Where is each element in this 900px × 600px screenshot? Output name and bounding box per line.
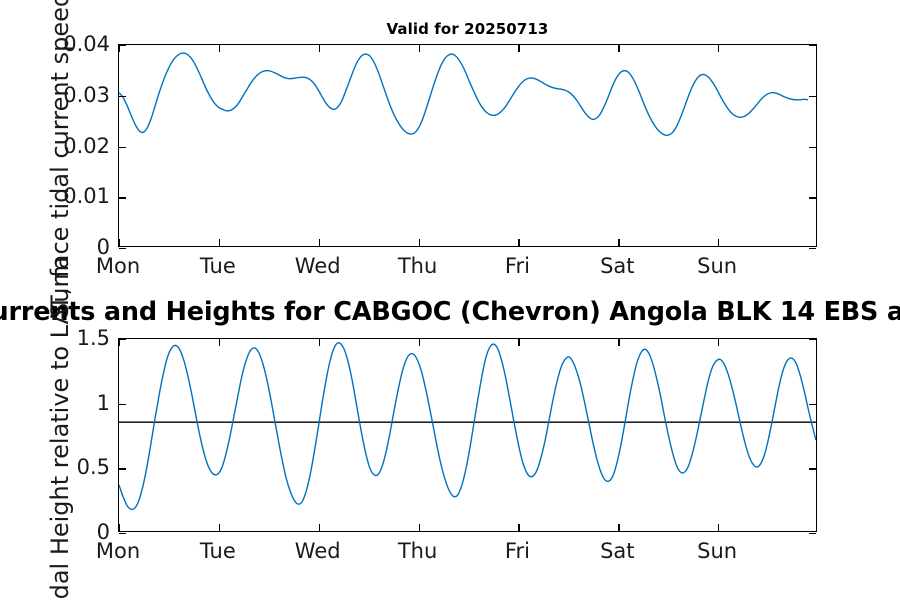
x-tick	[219, 239, 220, 246]
x-tick-label: Sat	[600, 254, 634, 278]
y-tick	[119, 339, 126, 340]
x-tick	[618, 239, 619, 246]
chart-subtitle: Valid for 20250713	[118, 20, 817, 38]
data-line-0	[119, 343, 816, 510]
data-line-0	[119, 53, 808, 135]
x-tick	[718, 45, 719, 52]
y-tick-label: 0	[0, 520, 110, 544]
y-tick-label: 0.5	[0, 455, 110, 479]
x-tick-label: Thu	[398, 539, 437, 563]
x-tick	[419, 45, 420, 52]
bottom-chart-plot-area[interactable]	[118, 338, 817, 532]
x-tick	[119, 524, 120, 531]
y-tick	[809, 96, 816, 97]
x-tick	[219, 45, 220, 52]
x-tick	[518, 239, 519, 246]
x-tick	[518, 524, 519, 531]
y-tick	[809, 468, 816, 469]
page-title: Currents and Heights for CABGOC (Chevron…	[0, 297, 900, 327]
x-tick	[319, 45, 320, 52]
x-tick-label: Wed	[295, 539, 341, 563]
y-tick	[809, 147, 816, 148]
x-tick-label: Wed	[295, 254, 341, 278]
bottom-chart-line-series	[119, 339, 816, 531]
x-tick	[119, 239, 120, 246]
x-tick	[319, 524, 320, 531]
y-tick-label: 0.04	[0, 32, 110, 56]
x-tick	[718, 524, 719, 531]
y-tick	[119, 404, 126, 405]
y-tick	[119, 45, 126, 46]
x-tick-label: Tue	[200, 254, 236, 278]
x-tick	[618, 339, 619, 346]
y-tick	[809, 339, 816, 340]
y-tick	[119, 197, 126, 198]
x-tick-label: Fri	[505, 254, 530, 278]
x-tick	[718, 239, 719, 246]
x-tick-label: Fri	[505, 539, 530, 563]
x-tick	[618, 45, 619, 52]
y-tick	[809, 45, 816, 46]
y-tick	[809, 248, 816, 249]
y-tick	[119, 248, 126, 249]
y-tick-label: 1	[0, 391, 110, 415]
x-tick-label: Sun	[697, 254, 737, 278]
x-tick	[618, 524, 619, 531]
x-tick-label: Tue	[200, 539, 236, 563]
y-tick	[119, 147, 126, 148]
y-tick	[809, 533, 816, 534]
x-tick	[718, 339, 719, 346]
x-tick	[219, 339, 220, 346]
y-tick	[119, 96, 126, 97]
y-tick	[809, 404, 816, 405]
y-tick	[119, 533, 126, 534]
x-tick	[518, 45, 519, 52]
y-axis-label-bottom: Tidal Height relative to LAT, m	[46, 257, 74, 600]
top-chart-line-series	[119, 45, 816, 246]
y-tick-label: 0	[0, 235, 110, 259]
y-tick-label: 0.01	[0, 184, 110, 208]
y-tick	[809, 197, 816, 198]
top-chart-plot-area[interactable]	[118, 44, 817, 247]
x-tick	[518, 339, 519, 346]
figure-canvas: Valid for 20250713 Surface tidal current…	[0, 0, 900, 600]
x-tick-label: Sun	[697, 539, 737, 563]
y-tick-label: 1.5	[0, 326, 110, 350]
x-tick	[319, 339, 320, 346]
x-tick	[419, 239, 420, 246]
x-tick	[419, 339, 420, 346]
x-tick	[219, 524, 220, 531]
x-tick	[319, 239, 320, 246]
x-tick	[419, 524, 420, 531]
y-tick	[119, 468, 126, 469]
x-tick-label: Sat	[600, 539, 634, 563]
y-tick-label: 0.02	[0, 134, 110, 158]
y-tick-label: 0.03	[0, 83, 110, 107]
x-tick-label: Thu	[398, 254, 437, 278]
